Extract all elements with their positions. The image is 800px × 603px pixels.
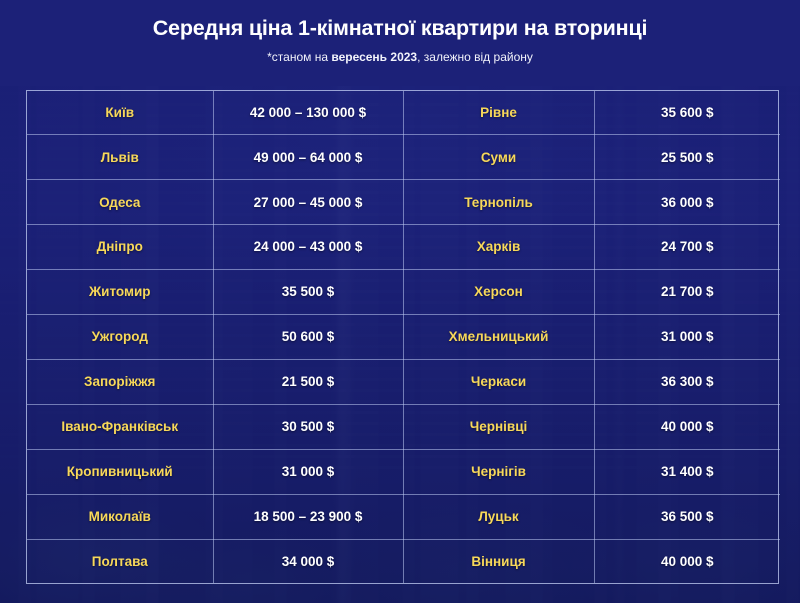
city-cell-left: Житомир xyxy=(27,269,213,314)
table-row: Львів 49 000 – 64 000 $ Суми 25 500 $ xyxy=(27,135,780,180)
price-cell-left: 31 000 $ xyxy=(213,449,403,494)
city-cell-right: Чернігів xyxy=(403,449,594,494)
price-cell-right: 36 500 $ xyxy=(594,494,780,539)
price-cell-right: 31 400 $ xyxy=(594,449,780,494)
table-row: Ужгород 50 600 $ Хмельницький 31 000 $ xyxy=(27,314,780,359)
table-row: Запоріжжя 21 500 $ Черкаси 36 300 $ xyxy=(27,359,780,404)
subtitle-period: вересень 2023 xyxy=(331,50,417,64)
city-cell-left: Дніпро xyxy=(27,225,213,270)
city-cell-right: Чернівці xyxy=(403,404,594,449)
price-cell-left: 27 000 – 45 000 $ xyxy=(213,180,403,225)
city-cell-left: Ужгород xyxy=(27,314,213,359)
city-cell-right: Рівне xyxy=(403,91,594,135)
subtitle-prefix: *станом на xyxy=(267,50,331,64)
city-cell-left: Полтава xyxy=(27,539,213,583)
city-cell-left: Кропивницький xyxy=(27,449,213,494)
city-cell-right: Суми xyxy=(403,135,594,180)
city-cell-right: Черкаси xyxy=(403,359,594,404)
price-cell-left: 42 000 – 130 000 $ xyxy=(213,91,403,135)
price-cell-right: 35 600 $ xyxy=(594,91,780,135)
city-cell-right: Вінниця xyxy=(403,539,594,583)
city-cell-left: Одеса xyxy=(27,180,213,225)
subtitle-suffix: , залежно від району xyxy=(417,50,533,64)
price-cell-left: 30 500 $ xyxy=(213,404,403,449)
price-cell-left: 24 000 – 43 000 $ xyxy=(213,225,403,270)
price-cell-right: 36 300 $ xyxy=(594,359,780,404)
page-title: Середня ціна 1-кімнатної квартири на вто… xyxy=(0,0,800,41)
city-cell-left: Миколаїв xyxy=(27,494,213,539)
city-cell-right: Тернопіль xyxy=(403,180,594,225)
table-row: Житомир 35 500 $ Херсон 21 700 $ xyxy=(27,269,780,314)
price-table-body: Київ 42 000 – 130 000 $ Рівне 35 600 $ Л… xyxy=(27,91,780,583)
table-row: Миколаїв 18 500 – 23 900 $ Луцьк 36 500 … xyxy=(27,494,780,539)
city-cell-right: Луцьк xyxy=(403,494,594,539)
table-row: Кропивницький 31 000 $ Чернігів 31 400 $ xyxy=(27,449,780,494)
price-cell-right: 40 000 $ xyxy=(594,539,780,583)
table-row: Полтава 34 000 $ Вінниця 40 000 $ xyxy=(27,539,780,583)
price-cell-left: 50 600 $ xyxy=(213,314,403,359)
header-band: Середня ціна 1-кімнатної квартири на вто… xyxy=(0,0,800,86)
price-cell-right: 40 000 $ xyxy=(594,404,780,449)
infographic-root: Середня ціна 1-кімнатної квартири на вто… xyxy=(0,0,800,603)
city-cell-right: Херсон xyxy=(403,269,594,314)
price-cell-right: 36 000 $ xyxy=(594,180,780,225)
table-row: Дніпро 24 000 – 43 000 $ Харків 24 700 $ xyxy=(27,225,780,270)
city-cell-right: Хмельницький xyxy=(403,314,594,359)
city-cell-left: Львів xyxy=(27,135,213,180)
price-cell-left: 35 500 $ xyxy=(213,269,403,314)
price-table-container: Київ 42 000 – 130 000 $ Рівне 35 600 $ Л… xyxy=(26,90,779,584)
city-cell-right: Харків xyxy=(403,225,594,270)
table-row: Київ 42 000 – 130 000 $ Рівне 35 600 $ xyxy=(27,91,780,135)
city-cell-left: Запоріжжя xyxy=(27,359,213,404)
price-cell-right: 24 700 $ xyxy=(594,225,780,270)
price-cell-left: 21 500 $ xyxy=(213,359,403,404)
page-subtitle: *станом на вересень 2023, залежно від ра… xyxy=(0,41,800,64)
price-cell-right: 25 500 $ xyxy=(594,135,780,180)
city-cell-left: Івано-Франківськ xyxy=(27,404,213,449)
price-cell-left: 49 000 – 64 000 $ xyxy=(213,135,403,180)
price-cell-left: 18 500 – 23 900 $ xyxy=(213,494,403,539)
table-row: Одеса 27 000 – 45 000 $ Тернопіль 36 000… xyxy=(27,180,780,225)
price-cell-right: 21 700 $ xyxy=(594,269,780,314)
price-cell-right: 31 000 $ xyxy=(594,314,780,359)
price-cell-left: 34 000 $ xyxy=(213,539,403,583)
table-row: Івано-Франківськ 30 500 $ Чернівці 40 00… xyxy=(27,404,780,449)
city-cell-left: Київ xyxy=(27,91,213,135)
price-table: Київ 42 000 – 130 000 $ Рівне 35 600 $ Л… xyxy=(27,91,780,583)
